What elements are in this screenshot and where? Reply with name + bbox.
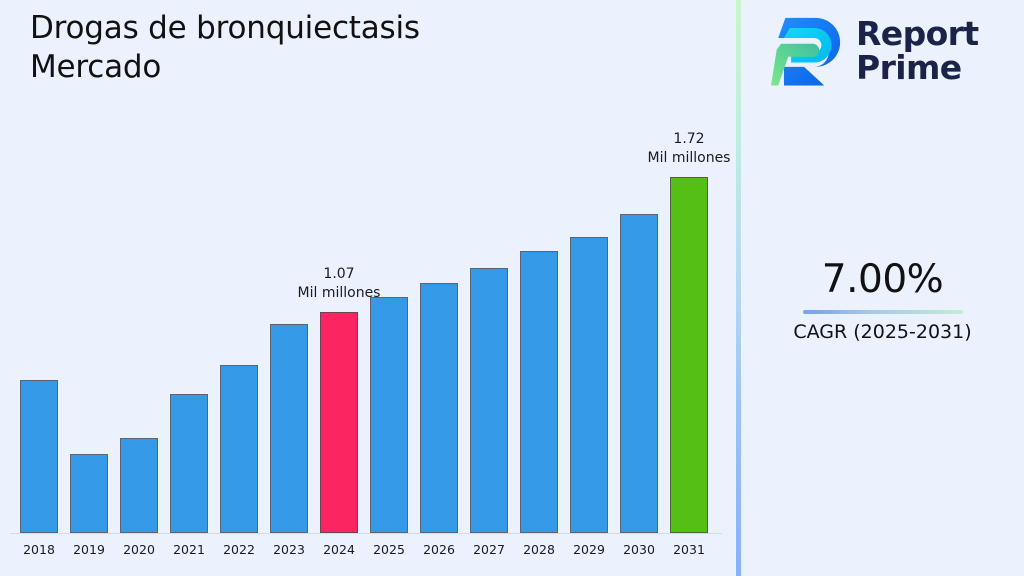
x-tick-2024: 2024: [320, 542, 358, 557]
chart-panel: Drogas de bronquiectasis Mercado 2018201…: [0, 0, 738, 576]
cagr-divider-rule: [803, 310, 963, 314]
x-tick-2020: 2020: [120, 542, 158, 557]
brand-wordmark: Report Prime: [856, 17, 979, 85]
bar-2018[interactable]: [20, 380, 58, 533]
bar-rect-2031[interactable]: [670, 177, 708, 533]
cagr-value: 7.00%: [741, 258, 1024, 302]
bar-2020[interactable]: [120, 438, 158, 533]
bar-2029[interactable]: [570, 237, 608, 533]
x-tick-2021: 2021: [170, 542, 208, 557]
bar-rect-2021[interactable]: [170, 394, 208, 533]
bar-2027[interactable]: [470, 268, 508, 533]
x-tick-2029: 2029: [570, 542, 608, 557]
bar-rect-2027[interactable]: [470, 268, 508, 533]
bar-2026[interactable]: [420, 283, 458, 533]
x-tick-2018: 2018: [20, 542, 58, 557]
bar-2028[interactable]: [520, 251, 558, 533]
bar-rect-2020[interactable]: [120, 438, 158, 533]
x-tick-2025: 2025: [370, 542, 408, 557]
x-tick-2019: 2019: [70, 542, 108, 557]
report-prime-logo-icon: [771, 12, 843, 90]
bar-rect-2024[interactable]: [320, 312, 358, 533]
x-tick-2026: 2026: [420, 542, 458, 557]
bar-rect-2022[interactable]: [220, 365, 258, 533]
bar-rect-2025[interactable]: [370, 297, 408, 533]
bar-2023[interactable]: [270, 324, 308, 533]
bar-rect-2023[interactable]: [270, 324, 308, 533]
x-tick-2030: 2030: [620, 542, 658, 557]
infographic-root: Drogas de bronquiectasis Mercado 2018201…: [0, 0, 1024, 576]
bar-rect-2030[interactable]: [620, 214, 658, 533]
cagr-caption: CAGR (2025-2031): [741, 320, 1024, 344]
bar-rect-2028[interactable]: [520, 251, 558, 533]
cagr-block: 7.00% CAGR (2025-2031): [741, 258, 1024, 344]
bar-rect-2019[interactable]: [70, 454, 108, 533]
bar-2019[interactable]: [70, 454, 108, 533]
bar-2024[interactable]: 1.07 Mil millones: [320, 312, 358, 533]
bar-rect-2029[interactable]: [570, 237, 608, 533]
bar-2031[interactable]: 1.72 Mil millones: [670, 177, 708, 533]
bar-2025[interactable]: [370, 297, 408, 533]
x-tick-2028: 2028: [520, 542, 558, 557]
x-tick-2031: 2031: [670, 542, 708, 557]
bar-chart-plot-area: 2018201920202021202220231.07 Mil millone…: [0, 0, 738, 576]
bar-2030[interactable]: [620, 214, 658, 533]
x-tick-2027: 2027: [470, 542, 508, 557]
side-panel: Report Prime 7.00% CAGR (2025-2031): [741, 0, 1024, 576]
brand-logo: Report Prime: [771, 12, 979, 90]
x-tick-2022: 2022: [220, 542, 258, 557]
x-tick-2023: 2023: [270, 542, 308, 557]
x-axis-line: [10, 533, 722, 534]
bar-2021[interactable]: [170, 394, 208, 533]
bar-2022[interactable]: [220, 365, 258, 533]
bar-rect-2026[interactable]: [420, 283, 458, 533]
bar-rect-2018[interactable]: [20, 380, 58, 533]
